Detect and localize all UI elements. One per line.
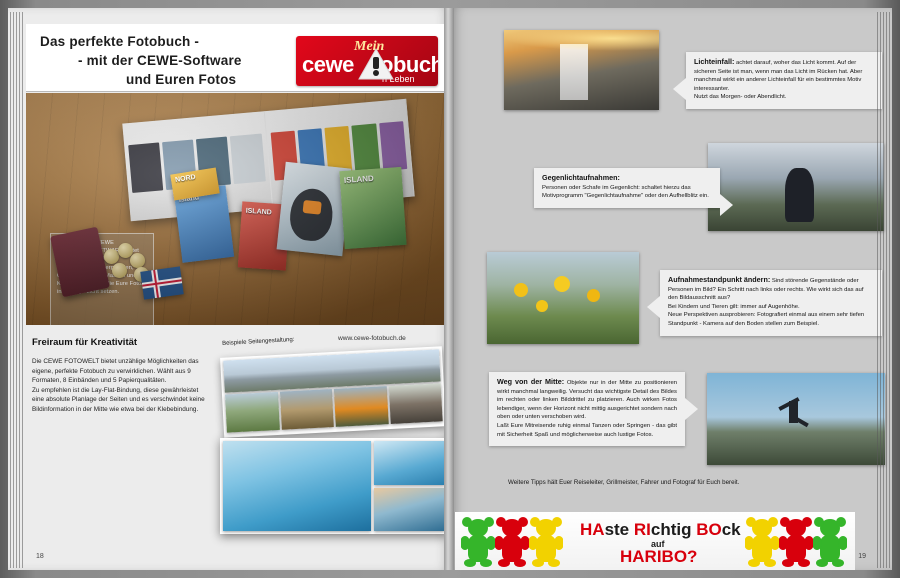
sample-photo-iceberg-small-2 — [374, 488, 445, 532]
gummy-bear-icon-5 — [779, 517, 813, 567]
sample-photo-meadow — [225, 392, 279, 433]
tip-lichteinfall: Lichteinfall: achtet darauf, woher das L… — [686, 52, 882, 109]
banner-bo: BO — [696, 520, 722, 539]
header-title-lines: Das perfekte Fotobuch - - mit der CEWE-S… — [40, 32, 242, 89]
brochure-title-4: NORD — [175, 171, 216, 185]
page-edges-left — [8, 12, 30, 568]
brochure-island-blue: Island — [174, 185, 234, 263]
album-thumb-row-left — [128, 134, 265, 193]
header-line-1: Das perfekte Fotobuch - — [40, 32, 242, 51]
tip-standpunkt: Aufnahmestandpunkt ändern: Sind störende… — [660, 270, 882, 336]
banner-headline-line-2: HARIBO? — [620, 547, 697, 567]
brochure-title-3: ISLAND — [245, 208, 287, 219]
logo-cewe-text: cewe — [302, 52, 354, 78]
jumping-person-photo — [707, 373, 885, 465]
sample-panorama-sheet — [220, 346, 446, 438]
gummy-bear-icon-3 — [529, 517, 563, 567]
tip-standpunkt-heading: Aufnahmestandpunkt ändern: — [668, 275, 770, 284]
right-page: Fototipps für unterwegs Lichteinfall: ac… — [452, 8, 892, 570]
warning-triangle-icon — [358, 48, 394, 80]
website-url[interactable]: www.cewe-fotobuch.de — [338, 335, 406, 342]
sample-iceberg-spread — [220, 438, 448, 534]
banner-ri: RI — [634, 520, 651, 539]
footnote-text: Weitere Tipps hält Euer Reiseleiter, Gri… — [508, 478, 739, 487]
samples-caption: Beispiele Seitengestaltung: — [222, 337, 295, 347]
book-spine — [444, 8, 454, 570]
kreativitaet-heading: Freiraum für Kreativität — [32, 337, 210, 348]
page-edges-right — [870, 12, 892, 568]
cewe-fotobuch-logo: Mein cewe obuch n Leben — [296, 36, 438, 86]
coins-group — [104, 243, 164, 283]
banner-ste: ste — [605, 520, 634, 539]
tip-gegenlicht-body: Personen oder Schafe im Gegenlicht: scha… — [542, 185, 709, 200]
banner-headline-line-1: HAste RIchtig BOck — [580, 520, 741, 540]
sample-photo-tent — [334, 386, 388, 427]
banner-chtig: chtig — [651, 520, 696, 539]
iceland-flag-card — [140, 266, 184, 299]
product-photo-wooden-table: Die kostenlose CEWE FOTOBUCH SOFTWARE bi… — [26, 93, 446, 325]
sample-photo-fox — [388, 383, 442, 424]
tip-mitte-heading: Weg von der Mitte: — [497, 377, 564, 386]
banner-ck: ck — [722, 520, 741, 539]
banner-ha: HA — [580, 520, 605, 539]
tip-mitte-body: Objekte nur in der Mitte zu positioniere… — [497, 380, 677, 438]
tip-pointer-right-icon-2 — [685, 398, 698, 420]
album-right-leaf — [264, 99, 414, 209]
gummy-bear-icon-4 — [745, 517, 779, 567]
brochure-island-green: ISLAND — [339, 167, 406, 249]
waterfall-sunset-photo — [504, 30, 659, 110]
tip-lichteinfall-heading: Lichteinfall: — [694, 57, 734, 66]
left-page: Das perfekte Fotobuch - - mit der CEWE-S… — [8, 8, 450, 570]
brochure-island-red: ISLAND — [238, 201, 290, 270]
brochure-title-1: Island — [179, 191, 226, 205]
header-line-3: und Euren Fotos — [40, 70, 242, 89]
tip-standpunkt-body: Sind störende Gegenstände oder Personen … — [668, 278, 864, 327]
sample-photo-iceberg-large — [223, 441, 371, 531]
backlit-person-photo — [708, 143, 884, 231]
passport-object — [50, 227, 110, 298]
sample-photo-iceberg-small-1 — [374, 441, 445, 485]
tip-pointer-left-icon-2 — [647, 296, 660, 318]
haribo-advertisement-banner[interactable]: HAste RIchtig BOck auf HARIBO? — [455, 512, 855, 570]
sample-photo-turf-house — [279, 389, 333, 430]
tip-lichteinfall-body: achtet darauf, woher das Licht kommt. Au… — [694, 60, 862, 100]
book-spread: Das perfekte Fotobuch - - mit der CEWE-S… — [0, 0, 900, 578]
tip-gegenlicht: Gegenlichtaufnahmen: Personen oder Schaf… — [534, 168, 720, 208]
page-number-left: 18 — [36, 553, 44, 560]
software-info-box: Die kostenlose CEWE FOTOBUCH SOFTWARE bi… — [50, 233, 154, 325]
gummy-bear-icon-2 — [495, 517, 529, 567]
gummy-bear-icon-6 — [813, 517, 847, 567]
tip-pointer-right-icon — [720, 194, 733, 216]
tip-pointer-left-icon — [673, 78, 686, 100]
brochure-island-puffin — [277, 162, 352, 256]
gummy-bear-icon-1 — [461, 517, 495, 567]
album-left-leaf — [122, 111, 272, 221]
header-line-2: - mit der CEWE-Software — [40, 51, 242, 70]
sample-photo-column — [374, 441, 445, 531]
kreativitaet-block: Freiraum für Kreativität Die CEWE FOTOWE… — [26, 333, 216, 421]
yellow-flowers-photo — [487, 252, 639, 344]
album-thumb-row-right — [270, 121, 407, 180]
brochure-title-2: ISLAND — [344, 173, 400, 185]
tip-weg-von-der-mitte: Weg von der Mitte: Objekte nur in der Mi… — [489, 372, 685, 446]
brochure-nord-yellow: NORD — [170, 168, 220, 201]
tip-gegenlicht-heading: Gegenlichtaufnahmen: — [542, 173, 620, 182]
page-number-right: 19 — [858, 553, 866, 560]
left-page-header: Das perfekte Fotobuch - - mit der CEWE-S… — [26, 24, 446, 92]
open-photobook-album — [122, 99, 414, 221]
kreativitaet-body: Die CEWE FOTOWELT bietet unzählige Mögli… — [32, 357, 210, 415]
